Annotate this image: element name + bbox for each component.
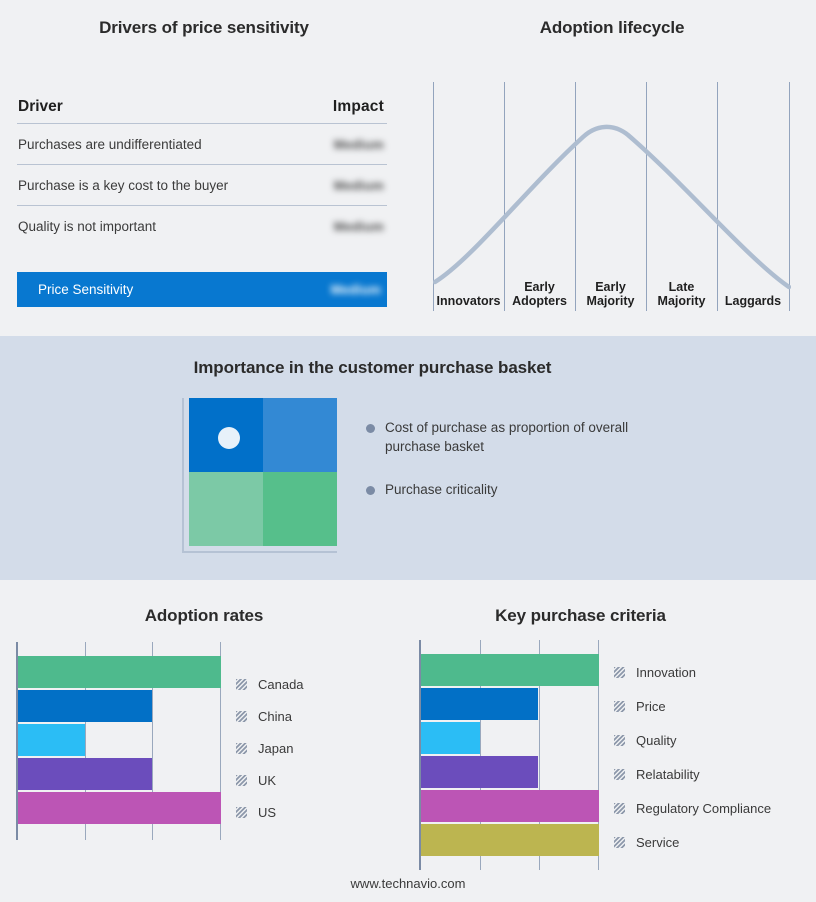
legend-item-service: Service <box>614 825 771 859</box>
adoption-rates-chart: Adoption rates Canada China <box>0 580 408 902</box>
quadrant-matrix <box>189 398 337 546</box>
legend-label: Relatability <box>636 767 700 782</box>
bar-relatability <box>421 756 538 788</box>
bar-innovation <box>421 654 599 686</box>
highlight-driver-name: Price Sensitivity <box>38 282 133 297</box>
hatched-swatch-icon <box>236 807 247 818</box>
hatched-swatch-icon <box>236 711 247 722</box>
lifecycle-stage-early-majority: Early Majority <box>575 280 646 308</box>
lifecycle-title: Adoption lifecycle <box>408 18 816 38</box>
legend-item-innovation: Innovation <box>614 655 771 689</box>
price-sensitivity-highlight-row: Price Sensitivity Medium <box>17 272 387 307</box>
highlight-impact-value: Medium <box>331 282 381 297</box>
hatched-swatch-icon <box>236 775 247 786</box>
legend-label: Service <box>636 835 679 850</box>
hatched-swatch-icon <box>614 837 625 848</box>
basket-title: Importance in the customer purchase bask… <box>0 358 745 378</box>
legend-label: Canada <box>258 677 304 692</box>
legend-label: Purchase criticality <box>385 480 498 499</box>
legend-item-quality: Quality <box>614 723 771 757</box>
footer-url: www.technavio.com <box>0 876 816 891</box>
lifecycle-stage-laggards: Laggards <box>717 294 789 308</box>
drivers-title: Drivers of price sensitivity <box>0 18 408 38</box>
quadrant-matrix-axes <box>182 398 337 553</box>
drivers-panel: Drivers of price sensitivity Driver Impa… <box>0 0 408 336</box>
hatched-swatch-icon <box>614 769 625 780</box>
infographic-page: Drivers of price sensitivity Driver Impa… <box>0 0 816 902</box>
legend-item-china: China <box>236 700 304 732</box>
legend-label: China <box>258 709 292 724</box>
key-purchase-criteria-chart: Key purchase criteria Innovation <box>408 580 816 902</box>
quadrant-bottom-right <box>263 472 337 546</box>
column-header-driver: Driver <box>18 98 63 116</box>
impact-value: Medium <box>334 178 384 193</box>
stage-label-line1: Late <box>669 280 695 294</box>
legend-label: Japan <box>258 741 293 756</box>
lifecycle-stage-early-adopters: Early Adopters <box>504 280 575 308</box>
bar-china <box>18 690 152 722</box>
bullet-dot-icon <box>366 424 375 433</box>
stage-label-line1: Early <box>524 280 555 294</box>
bar-canada <box>18 656 221 688</box>
stage-label-line2: Majority <box>587 294 635 308</box>
bar-quality <box>421 722 480 754</box>
legend-label: US <box>258 805 276 820</box>
adoption-rates-plot-area <box>16 642 221 840</box>
drivers-table: Driver Impact Purchases are undifferenti… <box>17 90 387 247</box>
legend-item: Purchase criticality <box>366 480 666 499</box>
legend-item-us: US <box>236 796 304 828</box>
column-header-impact: Impact <box>333 98 384 116</box>
quadrant-top-right <box>263 398 337 472</box>
hatched-swatch-icon <box>236 743 247 754</box>
impact-value: Medium <box>334 137 384 152</box>
driver-name: Purchases are undifferentiated <box>18 137 202 152</box>
quadrant-bottom-left <box>189 472 263 546</box>
stage-label-line1: Innovators <box>437 294 501 308</box>
legend-item-uk: UK <box>236 764 304 796</box>
bar-price <box>421 688 538 720</box>
stage-label-line2: Majority <box>658 294 706 308</box>
legend-label: Innovation <box>636 665 696 680</box>
lifecycle-stage-labels: Innovators Early Adopters Early Majority… <box>433 262 791 308</box>
legend-item-canada: Canada <box>236 668 304 700</box>
legend-item: Cost of purchase as proportion of overal… <box>366 418 666 456</box>
legend-label: UK <box>258 773 276 788</box>
hatched-swatch-icon <box>236 679 247 690</box>
position-marker-dot-icon <box>218 427 240 449</box>
legend-item-price: Price <box>614 689 771 723</box>
table-row: Purchases are undifferentiated Medium <box>17 124 387 165</box>
key-purchase-criteria-legend: Innovation Price Quality Relatability Re… <box>614 655 771 859</box>
table-header-row: Driver Impact <box>17 90 387 124</box>
basket-legend: Cost of purchase as proportion of overal… <box>366 418 666 523</box>
hatched-swatch-icon <box>614 803 625 814</box>
table-row: Purchase is a key cost to the buyer Medi… <box>17 165 387 206</box>
key-purchase-criteria-plot-area <box>419 640 599 870</box>
adoption-rates-legend: Canada China Japan UK US <box>236 668 304 828</box>
legend-label: Regulatory Compliance <box>636 801 771 816</box>
adoption-rates-title: Adoption rates <box>0 606 408 626</box>
driver-name: Purchase is a key cost to the buyer <box>18 178 228 193</box>
bar-uk <box>18 758 152 790</box>
adoption-lifecycle-panel: Adoption lifecycle Innovators Early Adop… <box>408 0 816 336</box>
key-purchase-criteria-title: Key purchase criteria <box>408 606 753 626</box>
bar-service <box>421 824 599 856</box>
stage-label-line2: Adopters <box>512 294 567 308</box>
bar-japan <box>18 724 85 756</box>
hatched-swatch-icon <box>614 701 625 712</box>
bullet-dot-icon <box>366 486 375 495</box>
bar-regulatory-compliance <box>421 790 599 822</box>
driver-name: Quality is not important <box>18 219 156 234</box>
stage-label-line1: Early <box>595 280 626 294</box>
hatched-swatch-icon <box>614 667 625 678</box>
table-row: Quality is not important Medium <box>17 206 387 247</box>
legend-label: Cost of purchase as proportion of overal… <box>385 418 643 456</box>
stage-label-line1: Laggards <box>725 294 781 308</box>
impact-value: Medium <box>334 219 384 234</box>
bar-us <box>18 792 221 824</box>
legend-label: Price <box>636 699 666 714</box>
hatched-swatch-icon <box>614 735 625 746</box>
lifecycle-stage-late-majority: Late Majority <box>646 280 717 308</box>
legend-item-relatability: Relatability <box>614 757 771 791</box>
legend-item-japan: Japan <box>236 732 304 764</box>
legend-label: Quality <box>636 733 676 748</box>
lifecycle-stage-innovators: Innovators <box>433 294 504 308</box>
legend-item-regulatory-compliance: Regulatory Compliance <box>614 791 771 825</box>
bottom-charts-panel: Adoption rates Canada China <box>0 580 816 902</box>
